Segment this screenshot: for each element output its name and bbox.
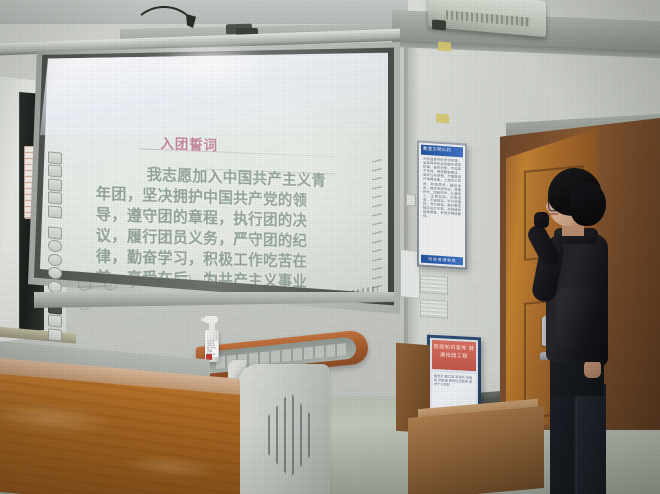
circle-icon[interactable] [48, 266, 62, 279]
smartboard-side-toolbar[interactable] [46, 149, 64, 350]
wall-sticky-note [436, 114, 449, 124]
notice-board-bottom-title: 防疫知识宣传 健康校园工程 [432, 340, 476, 371]
wall-plate [420, 299, 448, 319]
raised-fist [534, 212, 549, 228]
right-desk [408, 406, 544, 494]
air-conditioner-knob [432, 19, 446, 30]
notice-board-top-inner: 教室文明公约 为营造良好的学习环境，全体同学应自觉遵守课堂纪律，按时到校，不迟到… [419, 143, 465, 268]
projector-hotspot [150, 48, 270, 92]
side-toolbar-group[interactable] [46, 151, 64, 219]
brightness-icon[interactable] [48, 328, 62, 341]
classroom-photo: 入团誓词 我志愿加入中国共产主义青 年团，坚决拥护中国共产党的领 导，遵守团的章… [0, 0, 660, 494]
circle-icon[interactable] [48, 253, 62, 266]
side-toolbar-group[interactable] [46, 226, 64, 294]
circle-icon[interactable] [48, 280, 62, 293]
page-icon[interactable] [48, 205, 62, 218]
rectangle-icon[interactable] [178, 275, 191, 288]
rectangle-icon[interactable] [204, 274, 217, 287]
wall-sticky-note [438, 42, 451, 52]
smartboard-edge-markings [372, 159, 382, 291]
trouser-crease [574, 398, 577, 494]
page-icon[interactable] [48, 191, 62, 204]
menu-icon[interactable] [48, 164, 62, 177]
notice-board-top-footer: 班 级 管 理 制 度 [421, 255, 463, 266]
notice-board-top: 教室文明公约 为营造良好的学习环境，全体同学应自觉遵守课堂纪律，按时到校，不迟到… [417, 140, 467, 269]
left-hand [584, 360, 601, 378]
circle-icon[interactable] [48, 239, 62, 252]
settings-icon[interactable] [48, 314, 62, 327]
desk-woodgrain [0, 373, 240, 494]
wall-socket[interactable] [406, 194, 416, 207]
jacket-fold [556, 288, 600, 348]
page-icon[interactable] [48, 178, 62, 191]
home-icon[interactable] [48, 151, 62, 164]
hair-back [570, 182, 606, 226]
notice-board-top-body: 为营造良好的学习环境，全体同学应自觉遵守课堂纪律，按时到校，不迟到不早退。保持教… [421, 155, 463, 221]
leg [576, 384, 606, 494]
student-taking-oath [532, 168, 618, 494]
wall-plate [420, 275, 448, 295]
grid-icon[interactable] [48, 226, 62, 239]
